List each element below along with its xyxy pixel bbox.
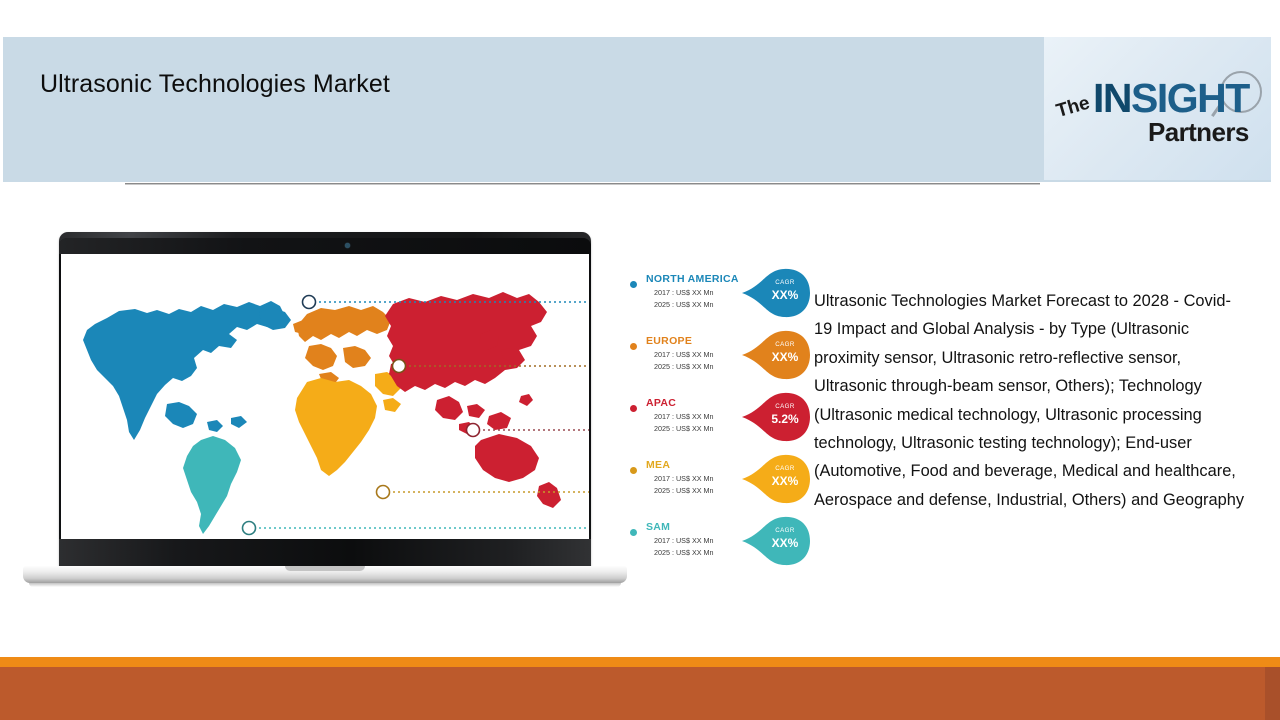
cagr-teardrop: CAGR XX% (740, 452, 812, 507)
callout-year-2025: 2025 : US$ XX Mn (654, 362, 714, 371)
callout-region-label: MEA (646, 459, 670, 471)
brand-logo[interactable]: The INSIGHT Partners (1044, 37, 1271, 180)
callout-region-label: SAM (646, 521, 670, 533)
callout-sam: SAM 2017 : US$ XX Mn 2025 : US$ XX Mn CA… (628, 518, 813, 570)
laptop-screen (61, 254, 589, 539)
callout-year-2025: 2025 : US$ XX Mn (654, 300, 714, 309)
map-marker-sam (243, 522, 256, 535)
callout-year-2025: 2025 : US$ XX Mn (654, 548, 714, 557)
map-region-sam (183, 436, 241, 534)
callout-north-america: NORTH AMERICA 2017 : US$ XX Mn 2025 : US… (628, 270, 813, 322)
callout-year-2017: 2017 : US$ XX Mn (654, 474, 714, 483)
laptop-base-shadow (29, 583, 621, 587)
region-callout-list: NORTH AMERICA 2017 : US$ XX Mn 2025 : US… (628, 270, 813, 570)
slide-canvas: Ultrasonic Technologies Market The INSIG… (0, 0, 1280, 720)
callout-year-2017: 2017 : US$ XX Mn (654, 350, 714, 359)
logo-the-text: The (1054, 93, 1093, 123)
cagr-label: CAGR (762, 341, 808, 348)
report-description: Ultrasonic Technologies Market Forecast … (814, 287, 1246, 514)
callout-year-2025: 2025 : US$ XX Mn (654, 486, 714, 495)
callout-bullet-icon (630, 529, 637, 536)
callout-year-2017: 2017 : US$ XX Mn (654, 288, 714, 297)
logo-artwork: The INSIGHT Partners (1044, 37, 1271, 180)
cagr-label: CAGR (762, 279, 808, 286)
map-marker-apac (467, 424, 480, 437)
cagr-value: XX% (762, 350, 808, 364)
callout-region-label: NORTH AMERICA (646, 273, 739, 285)
cagr-label: CAGR (762, 527, 808, 534)
cagr-teardrop: CAGR XX% (740, 328, 812, 383)
laptop-base-notch (285, 566, 365, 571)
footer-right-edge (1265, 667, 1280, 720)
map-region-apac (385, 292, 561, 508)
callout-year-2017: 2017 : US$ XX Mn (654, 412, 714, 421)
callout-bullet-icon (630, 343, 637, 350)
page-title: Ultrasonic Technologies Market (40, 70, 390, 99)
callout-bullet-icon (630, 405, 637, 412)
callout-apac: APAC 2017 : US$ XX Mn 2025 : US$ XX Mn C… (628, 394, 813, 446)
callout-mea: MEA 2017 : US$ XX Mn 2025 : US$ XX Mn CA… (628, 456, 813, 508)
callout-bullet-icon (630, 281, 637, 288)
callout-region-label: EUROPE (646, 335, 692, 347)
callout-bullet-icon (630, 467, 637, 474)
footer-accent-stripe (0, 657, 1280, 667)
cagr-value: XX% (762, 474, 808, 488)
callout-year-2025: 2025 : US$ XX Mn (654, 424, 714, 433)
map-marker-north-america (303, 296, 316, 309)
logo-partners-text: Partners (1148, 117, 1249, 148)
cagr-teardrop: CAGR 5.2% (740, 390, 812, 445)
laptop-bezel-top (59, 238, 591, 254)
webcam-icon (345, 243, 350, 248)
cagr-label: CAGR (762, 403, 808, 410)
cagr-value: XX% (762, 536, 808, 550)
map-marker-mea (377, 486, 390, 499)
map-region-mea (295, 372, 401, 476)
callout-year-2017: 2017 : US$ XX Mn (654, 536, 714, 545)
laptop-bezel-bottom (59, 539, 591, 569)
cagr-value: 5.2% (762, 412, 808, 426)
logo-insight-text: INSIGHT (1093, 75, 1249, 122)
cagr-teardrop: CAGR XX% (740, 266, 812, 321)
map-region-north-america (83, 301, 291, 440)
header-divider-shadow (125, 184, 1040, 185)
callout-region-label: APAC (646, 397, 676, 409)
cagr-teardrop: CAGR XX% (740, 514, 812, 569)
footer-band (0, 667, 1280, 720)
laptop-mockup (23, 232, 627, 602)
map-marker-europe (393, 360, 406, 373)
world-map (61, 254, 589, 539)
cagr-value: XX% (762, 288, 808, 302)
callout-europe: EUROPE 2017 : US$ XX Mn 2025 : US$ XX Mn… (628, 332, 813, 384)
cagr-label: CAGR (762, 465, 808, 472)
